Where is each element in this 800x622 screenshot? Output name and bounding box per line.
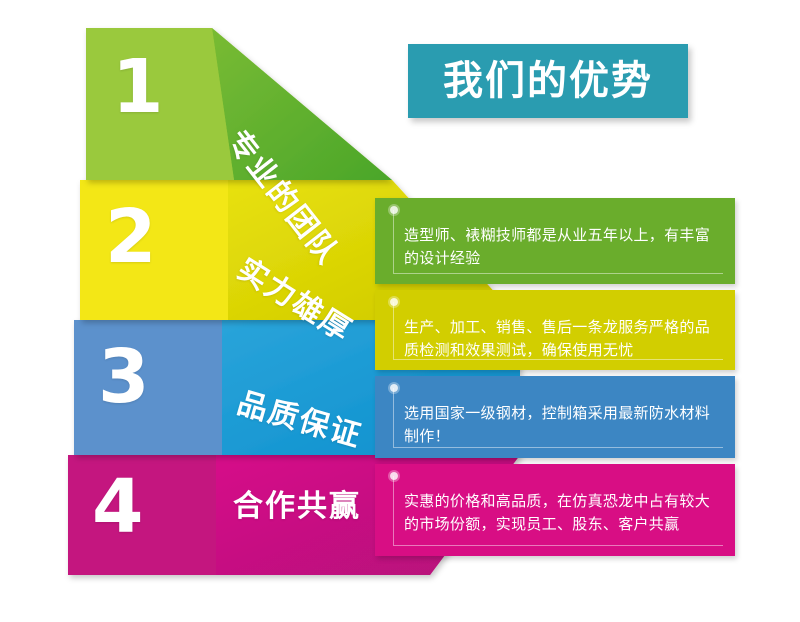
description-text-1: 造型师、裱糊技师都是从业五年以上，有丰富的设计经验 [404,224,715,271]
card-inner-frame-3: 选用国家一级钢材，控制箱采用最新防水材料制作！ [393,388,723,448]
headline-4: 合作共赢 [233,492,361,522]
infographic-canvas: 我们的优势 1 2 3 4 专业的团队 实力雄厚 品质保证 合作共赢 造型师、裱… [0,0,800,622]
step-number-2: 2 [105,200,157,274]
card-inner-frame-4: 实惠的价格和高品质，在仿真恐龙中占有较大的市场份额，实现员工、股东、客户共赢 [393,476,723,546]
card-inner-frame-1: 造型师、裱糊技师都是从业五年以上，有丰富的设计经验 [393,210,723,274]
page-title: 我们的优势 [408,44,688,118]
bullet-dot-icon [390,472,398,480]
description-text-3: 选用国家一级钢材，控制箱采用最新防水材料制作！ [404,402,715,449]
bullet-dot-icon [390,384,398,392]
description-card-1[interactable]: 造型师、裱糊技师都是从业五年以上，有丰富的设计经验 [375,198,735,284]
step-number-4: 4 [92,470,144,544]
card-inner-frame-2: 生产、加工、销售、售后一条龙服务严格的品质检测和效果测试，确保使用无忧 [393,302,723,360]
page-title-text: 我们的优势 [443,61,653,101]
description-card-3[interactable]: 选用国家一级钢材，控制箱采用最新防水材料制作！ [375,376,735,458]
step-number-1: 1 [112,50,164,124]
bullet-dot-icon [390,298,398,306]
description-card-4[interactable]: 实惠的价格和高品质，在仿真恐龙中占有较大的市场份额，实现员工、股东、客户共赢 [375,464,735,556]
description-text-4: 实惠的价格和高品质，在仿真恐龙中占有较大的市场份额，实现员工、股东、客户共赢 [404,490,715,537]
step-number-3: 3 [98,340,150,414]
bullet-dot-icon [390,206,398,214]
description-text-2: 生产、加工、销售、售后一条龙服务严格的品质检测和效果测试，确保使用无忧 [404,316,715,363]
description-card-2[interactable]: 生产、加工、销售、售后一条龙服务严格的品质检测和效果测试，确保使用无忧 [375,290,735,370]
